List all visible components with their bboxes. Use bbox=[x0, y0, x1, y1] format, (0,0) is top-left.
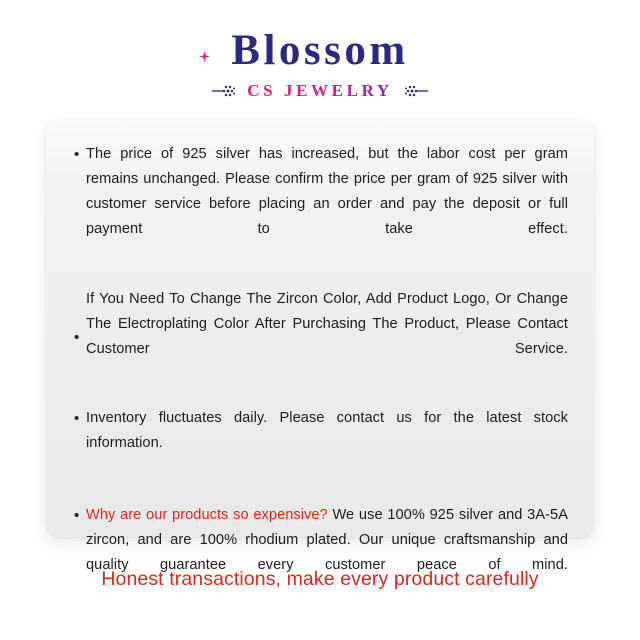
list-item: • If You Need To Change The Zircon Color… bbox=[72, 287, 568, 387]
brand-subtitle-row: CS JEWELRY bbox=[212, 82, 427, 99]
list-item: • The price of 925 silver has increased,… bbox=[72, 142, 568, 267]
brand-logo: Blossom bbox=[212, 28, 427, 99]
brand-title: Blossom bbox=[212, 28, 427, 73]
notice-list: • The price of 925 silver has increased,… bbox=[72, 142, 568, 603]
list-item: • Inventory fluctuates daily. Please con… bbox=[72, 406, 568, 481]
bullet-marker: • bbox=[72, 330, 86, 345]
sparkle-diamond-icon bbox=[199, 50, 210, 61]
snowflake-ornament-right-icon bbox=[398, 83, 428, 99]
bullet-marker: • bbox=[72, 503, 86, 528]
notice-card: • The price of 925 silver has increased,… bbox=[46, 120, 594, 537]
brand-subtitle: CS JEWELRY bbox=[247, 82, 392, 99]
footer-slogan: Honest transactions, make every product … bbox=[0, 568, 640, 591]
bullet-marker: • bbox=[72, 142, 86, 167]
promo-banner-page: Blossom bbox=[0, 0, 640, 640]
brand-header: Blossom bbox=[0, 28, 640, 104]
list-item-highlight: Why are our products so expensive? bbox=[86, 507, 328, 523]
bullet-marker: • bbox=[72, 406, 86, 431]
list-item-text: If You Need To Change The Zircon Color, … bbox=[86, 287, 568, 387]
list-item-text: The price of 925 silver has increased, b… bbox=[86, 142, 568, 267]
snowflake-ornament-left-icon bbox=[212, 83, 242, 99]
list-item-text: Inventory fluctuates daily. Please conta… bbox=[86, 406, 568, 481]
